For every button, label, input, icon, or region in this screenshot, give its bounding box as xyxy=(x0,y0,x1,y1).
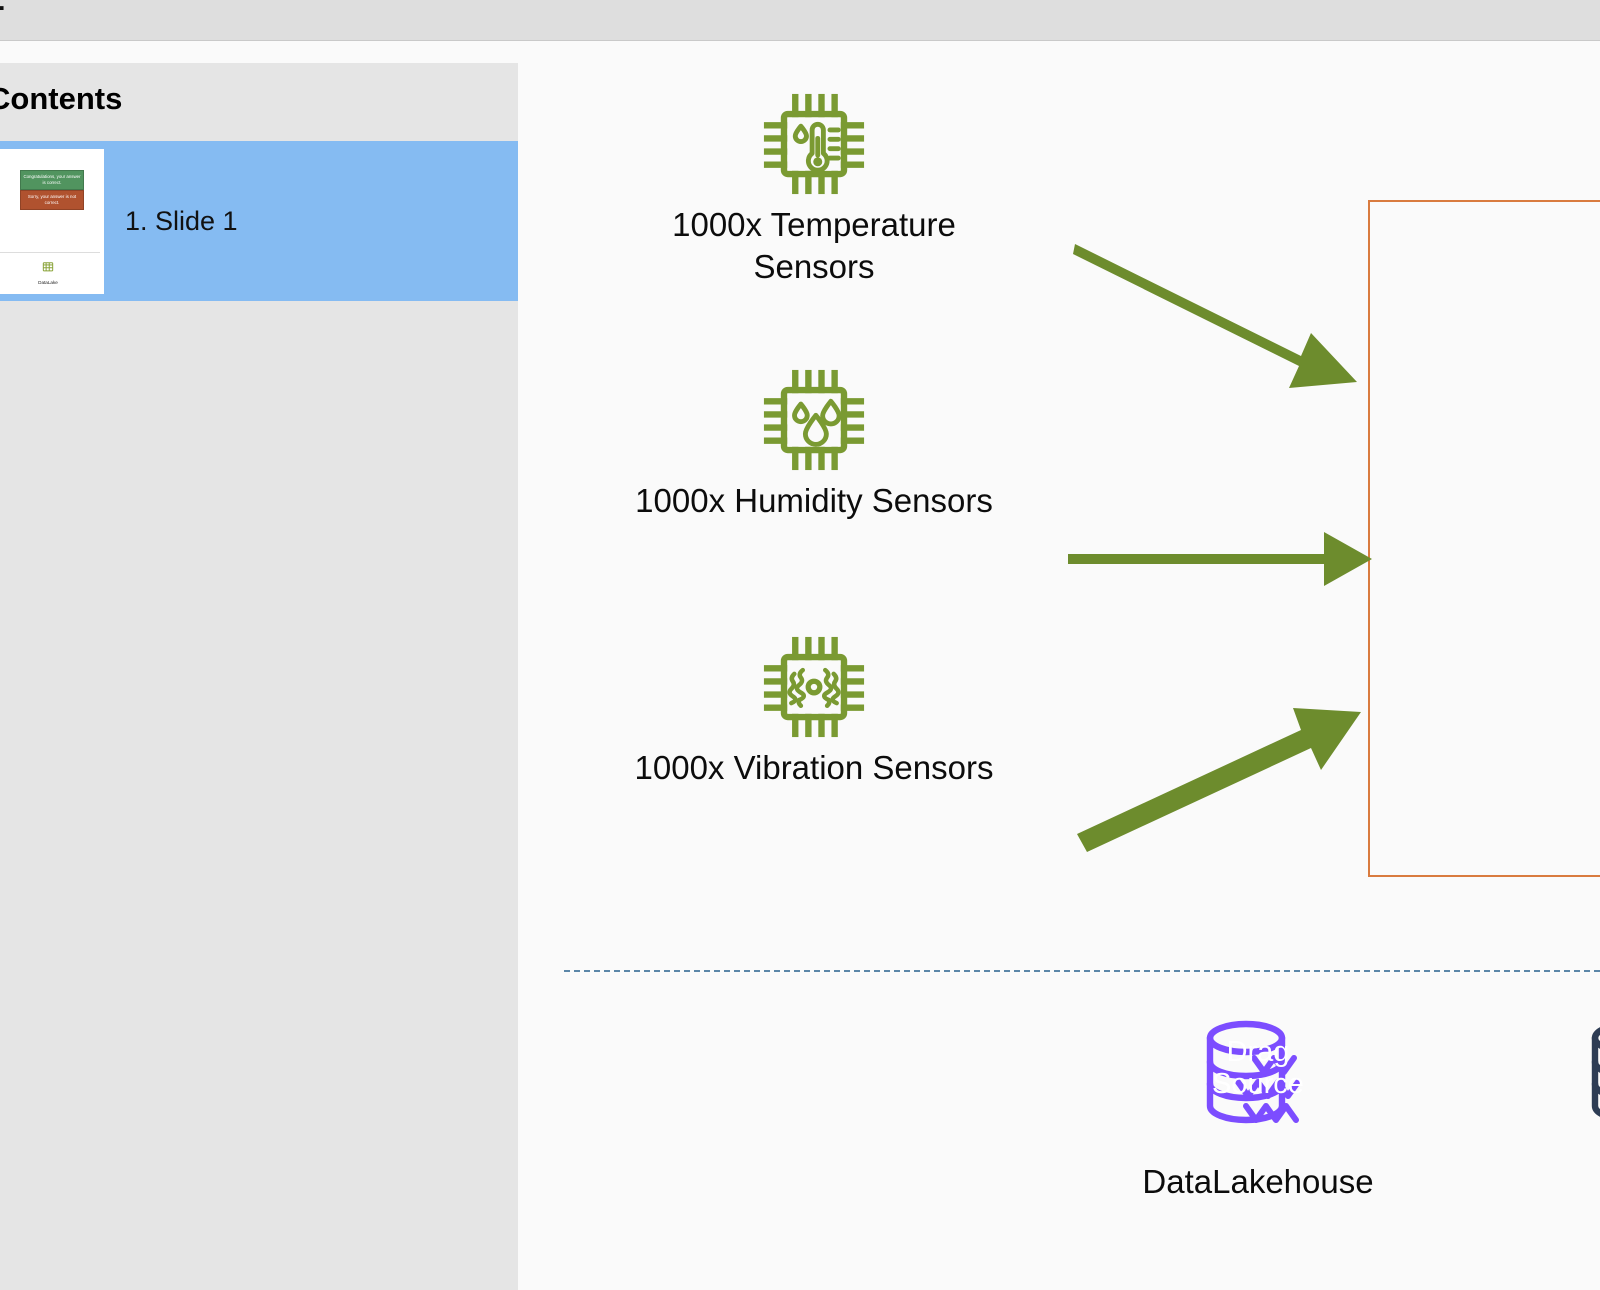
node-datalakehouse[interactable]: Drag Source DataLakehouse xyxy=(1108,1010,1408,1201)
arrow-temperature-to-container xyxy=(1073,202,1373,402)
database-cylinder-icon xyxy=(1579,1010,1600,1150)
sidebar-title: Contents xyxy=(0,81,122,117)
node-label: Data xyxy=(1493,1163,1600,1201)
slide-list: Congratulations, your answer is correct.… xyxy=(0,141,518,301)
node-label: 1000x Temperature Sensors xyxy=(594,204,1034,288)
arrow-humidity-to-container xyxy=(1066,512,1376,602)
thumbnail-datalake-caption: DataLake xyxy=(0,280,104,285)
node-label: DataLakehouse xyxy=(1108,1163,1408,1201)
node-vibration-sensors[interactable]: 1000x Vibration Sensors xyxy=(594,627,1034,789)
node-temperature-sensors[interactable]: 1000x Temperature Sensors xyxy=(594,84,1034,288)
humidity-sensor-chip-icon xyxy=(754,360,874,480)
thumbnail-correct-banner: Congratulations, your answer is correct. xyxy=(20,170,84,190)
slide-thumbnail[interactable]: Congratulations, your answer is correct.… xyxy=(0,149,104,294)
contents-sidebar: Contents Congratulations, your answer is… xyxy=(0,63,518,1290)
node-humidity-sensors[interactable]: 1000x Humidity Sensors xyxy=(594,360,1034,522)
processing-container-box[interactable] xyxy=(1368,200,1600,877)
node-label: 1000x Vibration Sensors xyxy=(594,747,1034,789)
arrow-vibration-to-container xyxy=(1073,682,1373,862)
thumbnail-divider xyxy=(0,252,100,253)
datalake-bucket-icon xyxy=(40,259,56,274)
section-divider xyxy=(564,970,1600,972)
thumbnail-datalake-group: DataLake xyxy=(0,259,104,285)
list-item-label: 1. Slide 1 xyxy=(125,206,238,237)
database-cylinder-icon xyxy=(1194,1010,1322,1150)
slide-canvas[interactable]: 1000x Temperature Sensors xyxy=(518,42,1600,1290)
temperature-sensor-chip-icon xyxy=(754,84,874,204)
list-item[interactable]: Congratulations, your answer is correct.… xyxy=(0,141,518,301)
title-bar: 2 xyxy=(0,0,1600,41)
vibration-sensor-chip-icon xyxy=(754,627,874,747)
thumbnail-incorrect-banner: Sorry, your answer is not correct. xyxy=(20,190,84,210)
window-title-fragment: 2 xyxy=(0,0,4,19)
node-label: 1000x Humidity Sensors xyxy=(594,480,1034,522)
node-data-secondary[interactable]: Data xyxy=(1493,1010,1600,1201)
